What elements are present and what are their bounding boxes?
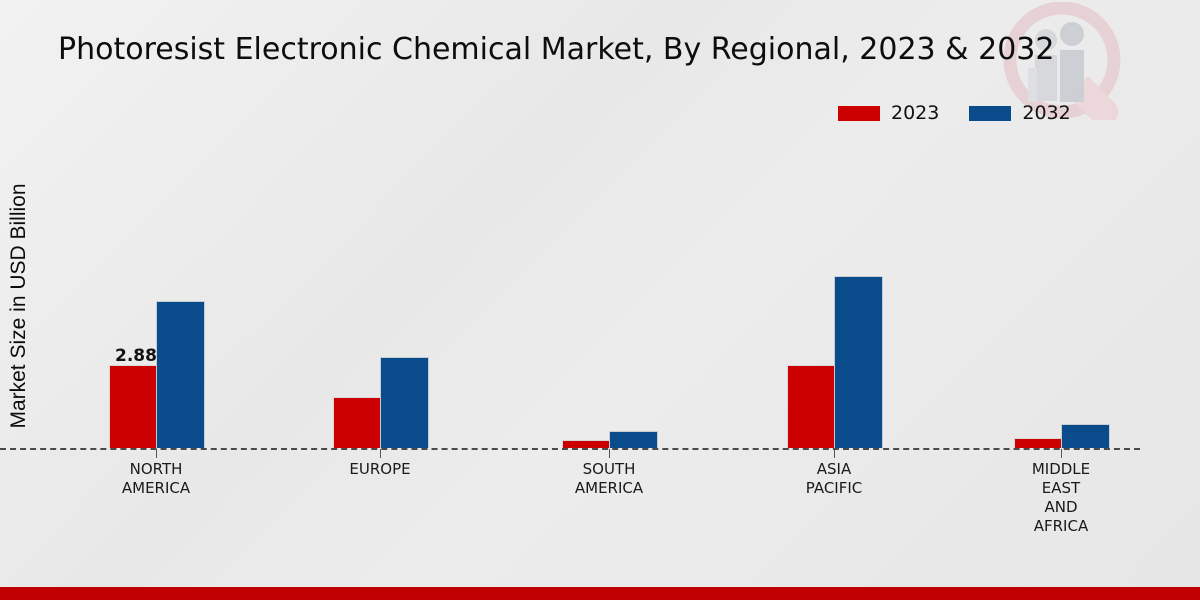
x-axis-label-line: SOUTH <box>529 460 689 479</box>
x-axis-label-line: AND <box>981 498 1141 517</box>
bar-2023-europe[interactable] <box>333 397 382 448</box>
x-axis-label-line: NORTH <box>76 460 236 479</box>
bar-2023-south-america[interactable] <box>562 440 611 448</box>
bar-2032-europe[interactable] <box>380 357 429 448</box>
x-axis-tick <box>380 449 381 458</box>
x-axis-label-north-america: NORTHAMERICA <box>76 460 236 498</box>
bar-2023-north-america[interactable] <box>109 365 158 448</box>
x-axis-label-line: EUROPE <box>300 460 460 479</box>
footer-band <box>0 587 1200 600</box>
bar-2032-asia-pacific[interactable] <box>834 276 883 448</box>
x-axis-tick <box>609 449 610 458</box>
x-axis-label-line: PACIFIC <box>754 479 914 498</box>
x-axis-label-middle-east-and-africa: MIDDLEEASTANDAFRICA <box>981 460 1141 536</box>
bar-2032-middle-east-and-africa[interactable] <box>1061 424 1110 448</box>
bar-value-label: 2.88 <box>115 346 157 366</box>
x-axis-tick <box>156 449 157 458</box>
x-axis-label-south-america: SOUTHAMERICA <box>529 460 689 498</box>
bar-2023-asia-pacific[interactable] <box>787 365 836 448</box>
chart-page: Photoresist Electronic Chemical Market, … <box>0 0 1200 600</box>
x-axis-label-europe: EUROPE <box>300 460 460 479</box>
x-axis-label-line: MIDDLE <box>981 460 1141 479</box>
x-axis-tick <box>834 449 835 458</box>
x-axis-label-line: AMERICA <box>529 479 689 498</box>
x-axis-label-line: ASIA <box>754 460 914 479</box>
bar-2023-middle-east-and-africa[interactable] <box>1014 438 1063 448</box>
bar-2032-north-america[interactable] <box>156 301 205 448</box>
x-axis-tick <box>1061 449 1062 458</box>
x-axis-label-asia-pacific: ASIAPACIFIC <box>754 460 914 498</box>
x-axis-label-line: EAST <box>981 479 1141 498</box>
plot-area: 2.88NORTHAMERICAEUROPESOUTHAMERICAASIAPA… <box>0 0 1200 450</box>
x-axis-label-line: AFRICA <box>981 517 1141 536</box>
bar-2032-south-america[interactable] <box>609 431 658 448</box>
x-axis-baseline <box>0 448 1140 450</box>
x-axis-label-line: AMERICA <box>76 479 236 498</box>
